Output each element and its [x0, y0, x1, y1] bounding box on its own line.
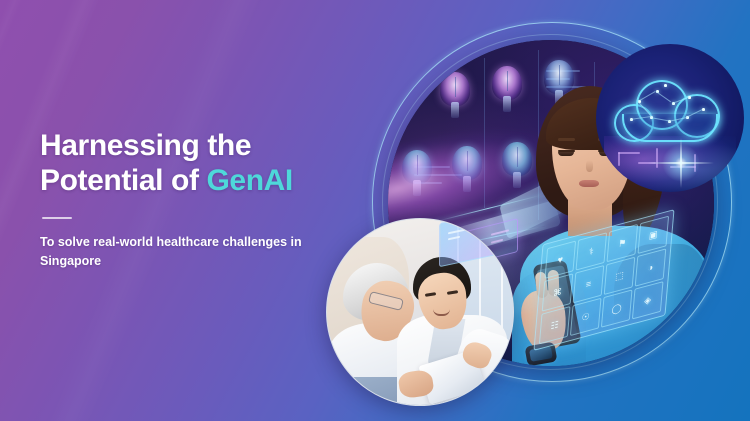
network-edge	[630, 116, 652, 120]
cloud-outline	[608, 74, 732, 144]
network-edge	[672, 97, 689, 104]
ai-cloud-graphic	[596, 44, 744, 192]
hero-text-block: Harnessing the Potential of GenAI To sol…	[40, 128, 370, 271]
nurse-nose	[586, 160, 593, 172]
network-edge	[656, 91, 671, 102]
network-edge	[686, 109, 703, 118]
network-edge	[668, 117, 688, 122]
nurse-lips	[579, 180, 599, 187]
nurse-eyebrow	[558, 138, 575, 141]
holo-icon: ◯	[601, 289, 633, 327]
nurse-eye	[558, 152, 574, 156]
network-edge	[650, 117, 670, 121]
title-divider	[42, 217, 72, 219]
network-node	[664, 84, 667, 87]
holo-icon: ☉	[570, 298, 602, 336]
headline-line-1: Harnessing the	[40, 128, 370, 163]
page-title: Harnessing the Potential of GenAI	[40, 128, 370, 198]
network-nodes	[608, 74, 732, 144]
holo-icon: ◈	[632, 281, 664, 319]
headline-line-2: Potential of GenAI	[40, 163, 370, 198]
network-edge	[638, 91, 656, 102]
hero-banner: ♥ ⚕ ⚑ ▣ ⌘ ≡ ⬚ ◑ ☷ ☉ ◯ ◈	[0, 0, 750, 421]
brain-scan-slice	[440, 72, 470, 106]
holo-icon: ☷	[539, 306, 571, 344]
headline-line-2-prefix: Potential of	[40, 164, 206, 197]
lens-flare	[662, 144, 700, 182]
page-subtitle: To solve real-world healthcare challenge…	[40, 233, 360, 271]
network-edge	[638, 101, 652, 116]
headline-accent-genai: GenAI	[206, 164, 292, 197]
